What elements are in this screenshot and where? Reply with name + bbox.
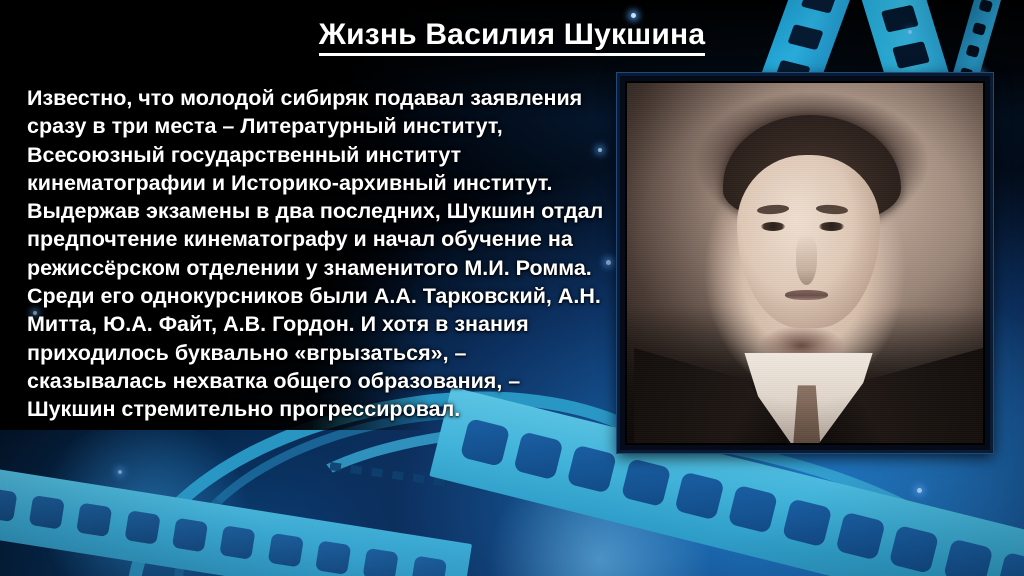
- portrait-inner-border: [625, 81, 985, 445]
- bokeh-dot-7: [118, 470, 122, 474]
- portrait-frame: [617, 73, 993, 453]
- portrait-mouth: [785, 290, 828, 300]
- bokeh-dot-6: [917, 488, 922, 493]
- portrait-photo: [627, 83, 983, 443]
- body-text-block: Известно, что молодой сибиряк подавал за…: [27, 84, 612, 424]
- portrait-eye-left: [761, 222, 786, 231]
- portrait-eye-right: [819, 222, 844, 231]
- presentation-slide: Жизнь Василия Шукшина Известно, что моло…: [0, 0, 1024, 576]
- page-title: Жизнь Василия Шукшина: [0, 18, 1024, 52]
- page-title-text: Жизнь Василия Шукшина: [319, 18, 705, 56]
- body-paragraph: Известно, что молодой сибиряк подавал за…: [27, 84, 612, 424]
